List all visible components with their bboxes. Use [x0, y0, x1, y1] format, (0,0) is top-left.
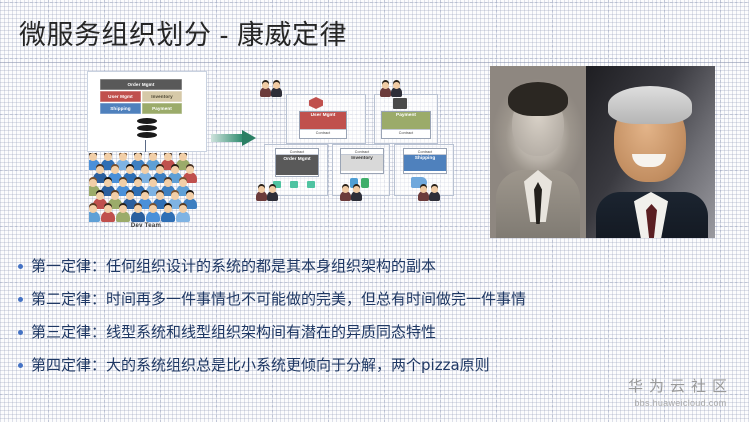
- service-box-user-mgmt: User Mgmt Contract: [299, 111, 347, 139]
- monolith-module-order-mgmt: Order Mgmt: [100, 79, 182, 90]
- list-item: 第一定律：任何组织设计的系统的都是其本身组织架构的副本: [18, 255, 678, 288]
- monolith-container: Order Mgmt User Mgmt Inventory Shipping …: [87, 71, 207, 152]
- law-text-2: 第二定律：时间再多一件事情也不可能做的完美，但总有时间做完一件事情: [31, 288, 526, 310]
- watermark-brand: 华为云社区: [628, 375, 733, 396]
- watermark: 华为云社区 bbs.huaweicloud.com: [628, 375, 733, 408]
- service-box-inventory: Contract Inventory: [340, 148, 384, 174]
- contract-label-payment: Contract: [382, 129, 430, 135]
- list-item: 第二定律：时间再多一件事情也不可能做的完美，但总有时间做完一件事情: [18, 288, 678, 321]
- list-item: 第三定律：线型系统和线型组织架构间有潜在的异质同态特性: [18, 321, 678, 354]
- laws-list: 第一定律：任何组织设计的系统的都是其本身组织架构的副本 第二定律：时间再多一件事…: [18, 255, 678, 387]
- conway-older-portrait: [586, 66, 715, 238]
- service-box-shipping: Contract Shipping: [403, 148, 447, 174]
- microservices-diagram: User Mgmt Contract Payment Contract Cont…: [258, 82, 458, 217]
- title-divider: [0, 62, 749, 63]
- service-label-shipping: Shipping: [404, 155, 446, 171]
- dev-team-label: Dev Team: [87, 223, 205, 229]
- contract-label-user-mgmt: Contract: [300, 129, 346, 135]
- order-node-2: [290, 181, 298, 188]
- service-label-user-mgmt: User Mgmt: [300, 112, 346, 129]
- bullet-dot-icon: [18, 264, 23, 269]
- watermark-url: bbs.huaweicloud.com: [628, 398, 733, 408]
- service-label-payment: Payment: [382, 112, 430, 129]
- monolith-module-user-mgmt: User Mgmt: [100, 91, 141, 102]
- bullet-dot-icon: [18, 297, 23, 302]
- page-title: 微服务组织划分 - 康威定律: [19, 13, 347, 52]
- slide-canvas: 微服务组织划分 - 康威定律 Order Mgmt User Mgmt Inve…: [0, 0, 749, 422]
- list-item: 第四定律：大的系统组织总是比小系统更倾向于分解，两个pizza原则: [18, 354, 678, 387]
- law-text-3: 第三定律：线型系统和线型组织架构间有潜在的异质同态特性: [31, 321, 436, 343]
- database-cylinder-icon: [137, 118, 157, 142]
- payment-briefcase-icon: [393, 98, 407, 109]
- law-text-4: 第四定律：大的系统组织总是比小系统更倾向于分解，两个pizza原则: [31, 354, 490, 376]
- monolith-module-payment: Payment: [142, 103, 182, 114]
- conway-photo-pair: [490, 66, 715, 238]
- service-box-order-mgmt: Contract Order Mgmt: [275, 148, 319, 177]
- service-label-inventory: Inventory: [341, 155, 383, 171]
- law-text-1: 第一定律：任何组织设计的系统的都是其本身组织架构的副本: [31, 255, 436, 277]
- service-group-payment: Payment Contract: [374, 94, 438, 144]
- service-box-payment: Payment Contract: [381, 111, 431, 139]
- service-group-user-mgmt: User Mgmt Contract: [286, 94, 366, 144]
- monolith-connector: [145, 140, 146, 152]
- bullet-dot-icon: [18, 363, 23, 368]
- order-node-3: [307, 181, 315, 188]
- monolith-diagram: Order Mgmt User Mgmt Inventory Shipping …: [87, 71, 205, 239]
- dev-team-crowd: [89, 153, 203, 225]
- service-label-order-mgmt: Order Mgmt: [276, 155, 318, 175]
- conway-young-portrait: [490, 66, 586, 238]
- monolith-module-inventory: Inventory: [142, 91, 182, 102]
- user-mgmt-hex-icon: [309, 97, 323, 109]
- bullet-dot-icon: [18, 330, 23, 335]
- inventory-node-icon: [361, 178, 369, 188]
- right-arrow-icon: [211, 130, 257, 146]
- monolith-module-shipping: Shipping: [100, 103, 141, 114]
